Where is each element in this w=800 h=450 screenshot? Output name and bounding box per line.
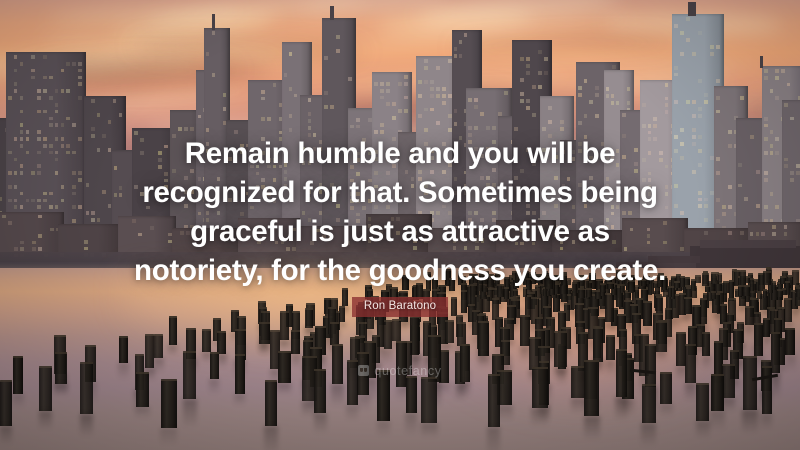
piling-reflection — [279, 340, 289, 351]
quote-line-4: notoriety, for the goodness you create. — [118, 251, 682, 290]
piling-reflection — [641, 423, 656, 448]
quote-line-3: graceful is just as attractive as — [118, 212, 682, 251]
pier-piling — [785, 328, 795, 355]
piling-reflection — [710, 411, 724, 431]
pier-piling — [384, 320, 393, 349]
piling-reflection — [584, 416, 600, 441]
piling-reflection — [696, 421, 710, 439]
quote-poster: Remain humble and you will be recognized… — [0, 0, 800, 450]
antenna — [760, 56, 763, 68]
pier-piling — [154, 334, 164, 358]
piling-reflection — [331, 384, 344, 407]
piling-reflection — [660, 404, 673, 416]
pier-piling — [265, 380, 277, 426]
piling-reflection — [135, 407, 150, 419]
piling-reflection — [80, 414, 94, 437]
piling-reflection — [39, 411, 53, 430]
pier-piling — [406, 376, 417, 413]
pier-piling — [696, 383, 709, 421]
pier-piling — [445, 320, 453, 344]
pier-piling — [392, 319, 401, 340]
piling-reflection — [421, 423, 438, 437]
piling-reflection — [259, 344, 270, 354]
quote-line-1: Remain humble and you will be — [118, 134, 682, 173]
piling-reflection — [656, 352, 667, 362]
quote-text: Remain humble and you will be recognized… — [0, 134, 800, 290]
piling-reflection — [357, 395, 370, 412]
piling-reflection — [277, 383, 291, 396]
piling-reflection — [264, 426, 277, 450]
quote-line-2: recognized for that. Sometimes being — [118, 173, 682, 212]
pier-piling — [161, 379, 177, 428]
piling-reflection — [160, 428, 177, 446]
pier-piling — [421, 377, 437, 423]
piling-reflection — [234, 394, 245, 406]
pier-piling — [0, 380, 11, 425]
pier-piling — [642, 384, 656, 422]
pier-piling — [259, 322, 269, 344]
pier-piling — [488, 374, 500, 426]
watermark: quotefancy — [0, 363, 800, 381]
pier-piling — [119, 336, 129, 363]
water-band — [0, 421, 800, 427]
piling-reflection — [459, 382, 470, 398]
piling-reflection — [314, 413, 327, 434]
pier-piling — [554, 331, 566, 366]
antenna — [330, 6, 334, 20]
author-attribution: Ron Baratono — [0, 296, 800, 317]
pier-piling — [702, 332, 710, 356]
piling-reflection — [377, 421, 391, 437]
quotefancy-logo-icon — [358, 365, 369, 376]
piling-reflection — [0, 426, 12, 445]
piling-reflection — [685, 383, 697, 401]
piling-reflection — [346, 405, 358, 420]
piling-reflection — [168, 345, 177, 356]
piling-reflection — [54, 384, 68, 396]
pier-piling — [606, 335, 615, 360]
piling-reflection — [209, 379, 219, 395]
piling-reflection — [531, 408, 548, 426]
pier-piling — [202, 329, 211, 353]
piling-reflection — [12, 394, 24, 408]
piling-reflection — [742, 410, 757, 434]
piling-reflection — [405, 413, 417, 436]
piling-reflection — [487, 427, 500, 450]
watermark-label: quotefancy — [374, 364, 441, 378]
pier-piling — [754, 323, 763, 357]
piling-reflection — [744, 325, 754, 337]
pier-piling — [457, 322, 466, 346]
author-name-badge: Ron Baratono — [352, 297, 448, 317]
pier-piling — [520, 315, 530, 346]
antenna — [688, 2, 696, 16]
pier-piling — [478, 321, 489, 356]
pier-piling — [169, 316, 177, 345]
pier-piling — [593, 327, 603, 362]
piling-reflection — [604, 322, 614, 332]
piling-reflection — [183, 399, 197, 428]
pier-piling — [656, 321, 666, 352]
pier-piling — [217, 331, 226, 354]
antenna — [212, 14, 215, 30]
piling-reflection — [615, 397, 627, 421]
pier-piling — [291, 330, 300, 354]
piling-reflection — [761, 414, 772, 429]
pier-piling — [330, 322, 339, 344]
